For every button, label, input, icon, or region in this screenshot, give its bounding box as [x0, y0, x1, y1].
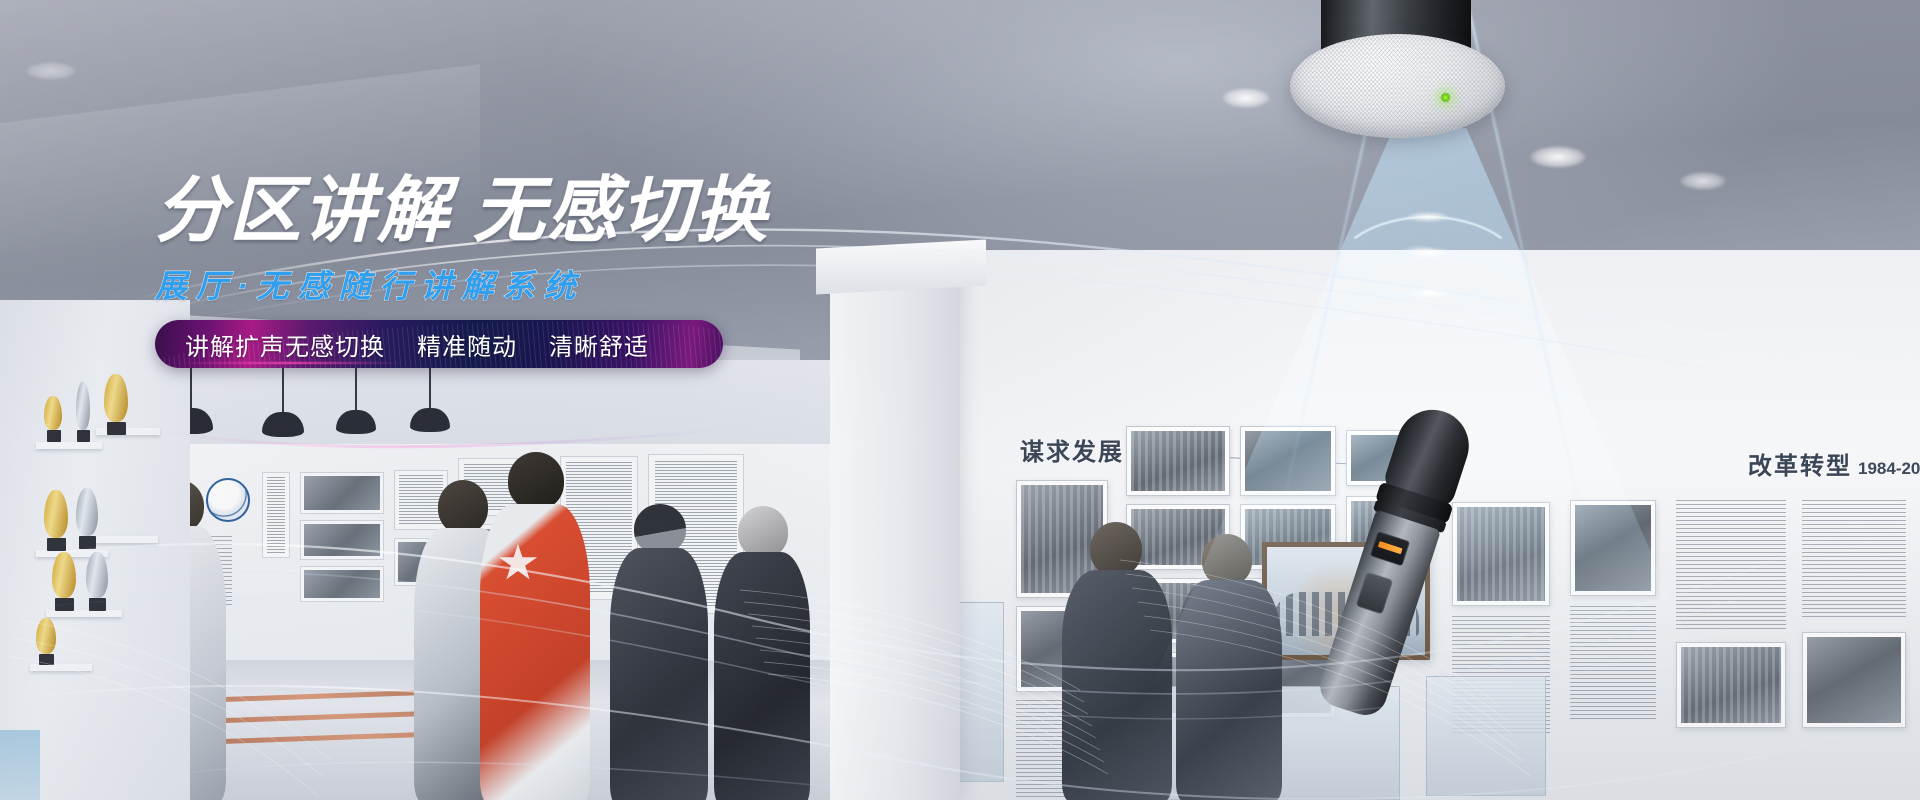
hall-ceiling — [150, 360, 830, 456]
glass-partition — [0, 730, 40, 800]
speaker-led-indicator — [1440, 92, 1451, 103]
pendant-lamp — [334, 360, 378, 448]
framed-photo — [1802, 632, 1906, 728]
trophy-cabinet-wall — [0, 300, 190, 800]
promo-banner: 谋求发展1952-1984 改革转型1984-2010 — [0, 0, 1920, 800]
feature-item-3: 清晰舒适 — [549, 327, 649, 362]
pendant-lamp — [408, 360, 452, 446]
exhibition-hall — [150, 360, 830, 800]
wall-panel — [300, 472, 384, 514]
trophy — [86, 552, 110, 612]
ceiling-speaker — [1290, 0, 1505, 144]
banner-copy: 分区讲解 无感切换 展厅·无感随行讲解系统 讲解扩声无感切换 精准随动 清晰舒适 — [155, 175, 955, 307]
visitor-with-red-vest — [480, 452, 590, 800]
wall-sign-2-years: 1984-2010 — [1858, 459, 1920, 478]
feature-item-1: 讲解扩声无感切换 — [185, 327, 385, 362]
visitor — [714, 506, 810, 800]
downlight-icon — [26, 62, 76, 80]
downlight-icon — [1680, 172, 1726, 190]
wall-panel — [262, 472, 290, 558]
pendant-lamp — [260, 360, 306, 452]
trophy — [44, 490, 70, 552]
trophy — [52, 552, 78, 612]
wall-panel — [300, 566, 384, 602]
trophy — [44, 396, 64, 446]
trophy — [76, 488, 100, 550]
vest-star-icon — [498, 544, 538, 582]
trophy — [36, 618, 58, 666]
speaker-grille — [1290, 34, 1505, 138]
page-subtitle: 展厅·无感随行讲解系统 — [155, 261, 955, 307]
feature-item-2: 精准随动 — [417, 327, 517, 362]
downlight-icon — [1530, 146, 1586, 168]
downlight-icon — [1222, 88, 1270, 108]
hall-pillar — [830, 250, 960, 800]
page-title: 分区讲解 无感切换 — [155, 175, 955, 247]
trophy — [104, 374, 130, 436]
framed-photo — [1126, 426, 1230, 496]
visitor-with-cap — [610, 504, 708, 800]
wall-panel — [300, 520, 384, 560]
wall-sign-2: 改革转型1984-2010 — [1748, 446, 1920, 481]
trophy — [76, 382, 94, 444]
wall-sign-2-title: 改革转型 — [1748, 453, 1852, 480]
visitor — [1056, 522, 1176, 800]
wall-text-block — [1802, 500, 1906, 620]
wall-sign-1-title: 谋求发展 — [1020, 439, 1124, 466]
wall-text-block — [1676, 500, 1786, 630]
feature-pill-bar: 讲解扩声无感切换 精准随动 清晰舒适 — [155, 320, 723, 368]
trophy-shelf — [96, 536, 158, 543]
display-case — [1426, 676, 1546, 796]
